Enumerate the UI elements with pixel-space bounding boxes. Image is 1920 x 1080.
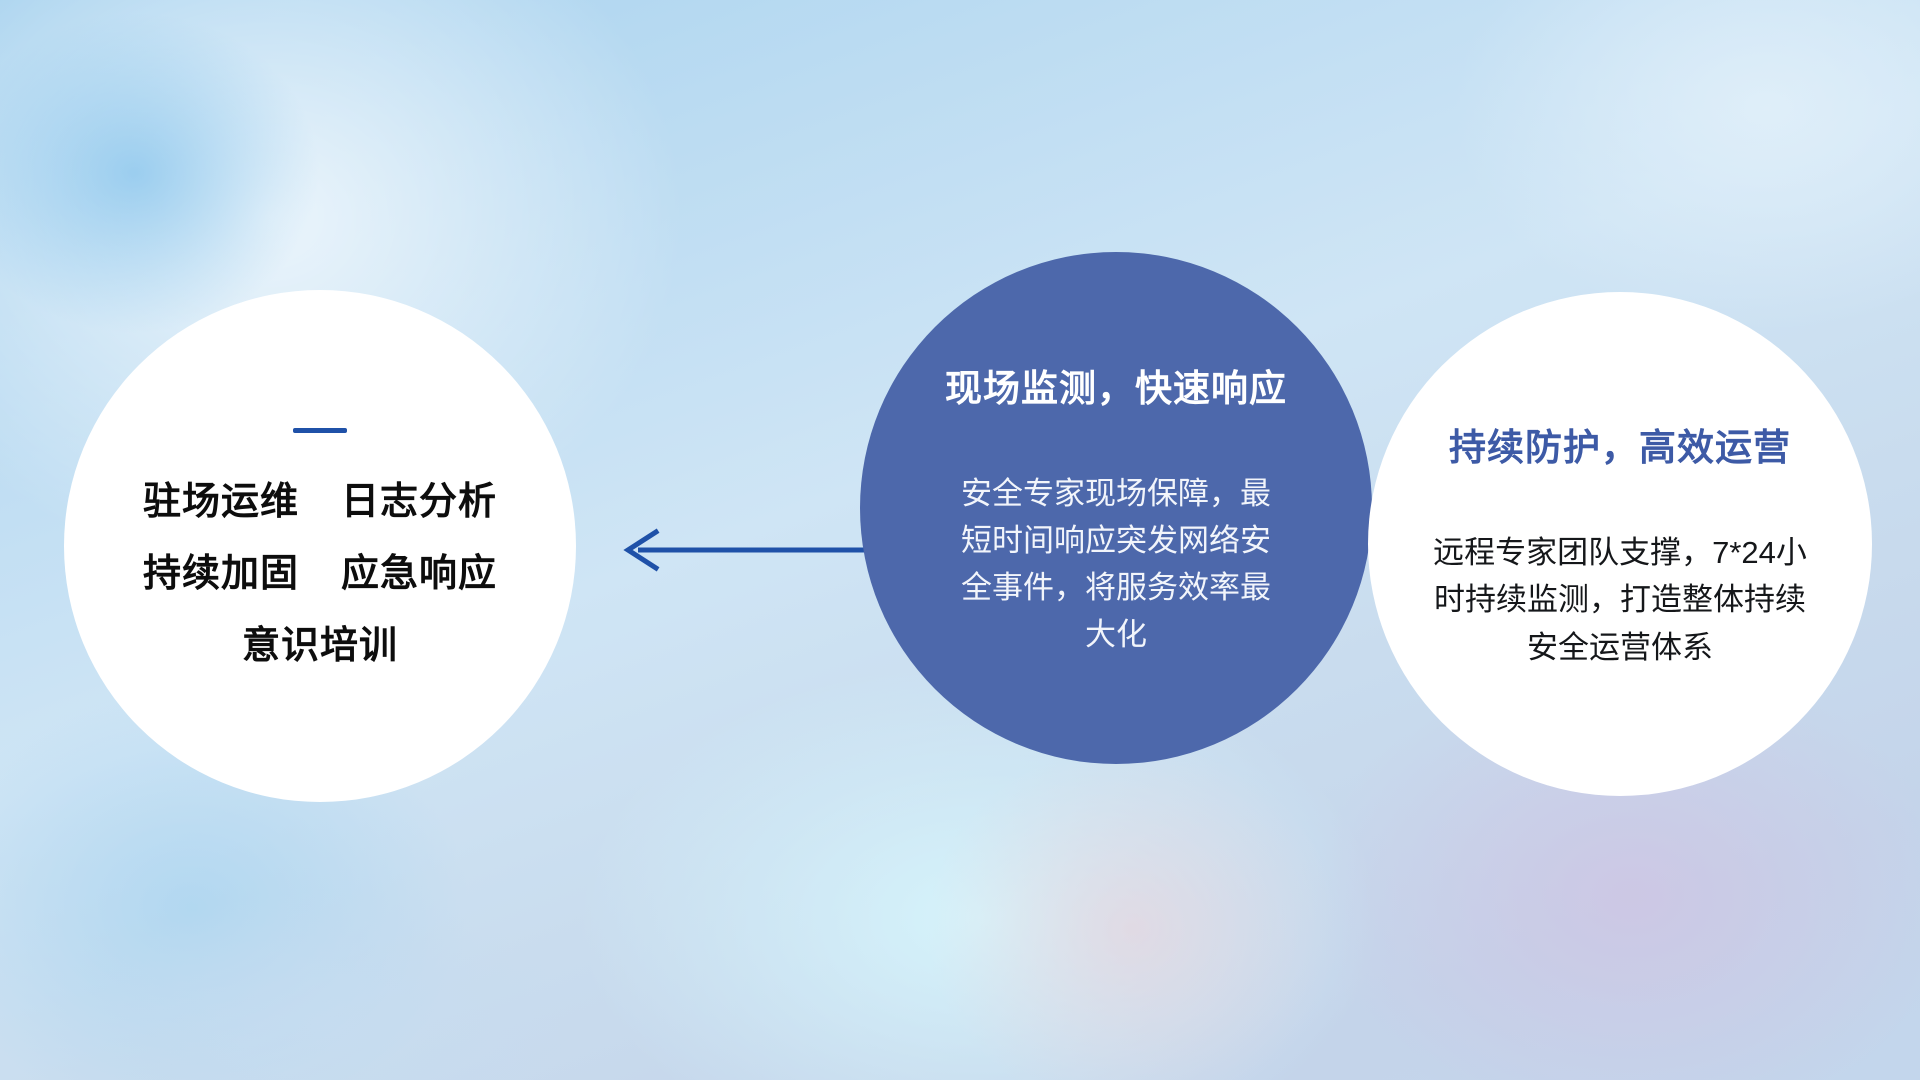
title-divider	[293, 428, 347, 433]
keywords-circle: 驻场运维 日志分析 持续加固 应急响应 意识培训	[64, 290, 576, 802]
keyword-item: 意识培训	[242, 627, 398, 665]
onsite-monitoring-circle: 现场监测，快速响应 安全专家现场保障，最短时间响应突发网络安全事件，将服务效率最…	[860, 252, 1372, 764]
keyword-item: 驻场运维	[143, 483, 299, 521]
onsite-monitoring-title: 现场监测，快速响应	[945, 358, 1287, 412]
keyword-row: 驻场运维 日志分析	[143, 483, 497, 521]
continuous-protection-circle: 持续防护，高效运营 远程专家团队支撑，7*24小时持续监测，打造整体持续安全运营…	[1368, 292, 1872, 796]
keyword-row: 持续加固 应急响应	[143, 555, 497, 593]
onsite-monitoring-body: 安全专家现场保障，最短时间响应突发网络安全事件，将服务效率最大化	[951, 470, 1281, 658]
keyword-item: 持续加固	[143, 555, 299, 593]
flow-arrow	[612, 520, 902, 580]
continuous-protection-body: 远程专家团队支撑，7*24小时持续监测，打造整体持续安全运营体系	[1420, 529, 1820, 670]
continuous-protection-title: 持续防护，高效运营	[1449, 417, 1791, 471]
keyword-item: 日志分析	[341, 483, 497, 521]
background-glow-bottom-left	[0, 842, 653, 1080]
keyword-row: 意识培训	[242, 627, 398, 665]
keyword-item: 应急响应	[341, 555, 497, 593]
